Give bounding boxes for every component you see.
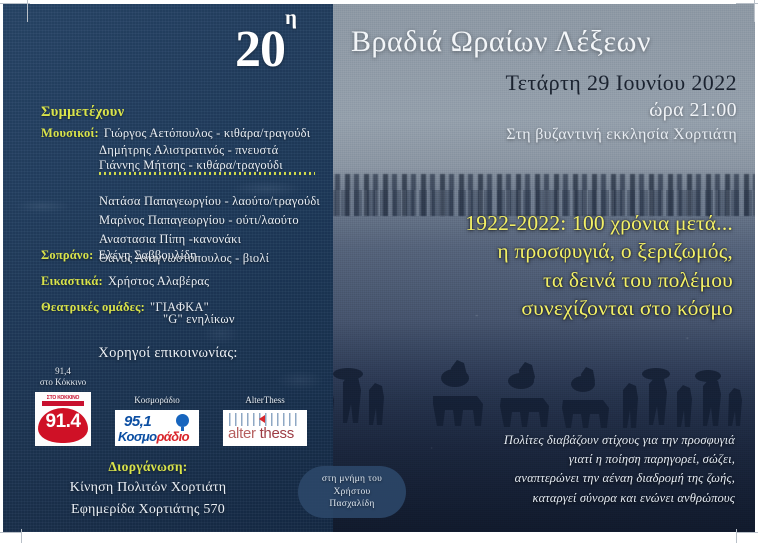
sto-kokkino-logo-frequency: 91.4	[35, 411, 91, 433]
sponsors-heading: Χορηγοί επικοινωνίας:	[3, 345, 333, 362]
sponsor-item: AlterThess alter thess	[223, 395, 307, 445]
organiser-heading: Διοργάνωση:	[3, 459, 293, 475]
participants-heading: Συμμετέχουν	[41, 104, 124, 121]
poem-line-2: γιατί η ποίηση παρηγορεί, σώζει,	[355, 450, 735, 469]
sponsors-list: 91,4 στο Κόκκινο ΣΤΟ ΚΟΚΚΙΝΟ 91.4 Κοσμορ…	[35, 366, 307, 446]
memorial-line-1: στη μνήμη του	[322, 473, 382, 486]
dotted-divider	[99, 172, 315, 175]
kosmoradio-logo-frequency: 95,1	[124, 413, 151, 430]
trim-mark	[21, 529, 22, 543]
trim-mark	[736, 529, 737, 543]
left-blue-panel	[3, 4, 333, 532]
poem-blurb: Πολίτες διαβάζουν στίχους για την προσφυ…	[355, 431, 735, 509]
headline-line-2: η προσφυγιά, ο ξεριζωμός,	[323, 237, 733, 265]
edition-number: 20	[235, 21, 285, 78]
musicians-first-row: Μουσικοί: Γιώργος Αετόπουλος - κιθάρα/τρ…	[41, 124, 310, 143]
sponsor-caption: Κοσμοράδιο	[115, 395, 199, 406]
edition-ordinal: 20η	[235, 24, 296, 76]
organiser-line-1: Κίνηση Πολιτών Χορτιάτη	[3, 480, 293, 496]
sponsor-item: Κοσμοράδιο 95,1 Κοσμοράδιο	[115, 395, 199, 445]
play-triangle-icon	[259, 415, 265, 423]
poem-line-3: αναπτερώνει την αέναη διαδρομή της ζωής,	[355, 469, 735, 488]
alterthess-logo-name: alter thess	[228, 425, 294, 442]
memorial-line-3: Πασχαλίδη	[329, 498, 374, 511]
kosmoradio-logo: 95,1 Κοσμοράδιο	[115, 410, 199, 446]
headline-line-3: τα δεινά του πολέμου	[323, 266, 733, 294]
trim-mark	[736, 532, 758, 533]
kosmoradio-logo-name: Κοσμοράδιο	[118, 429, 189, 444]
memorial-dedication-badge: στη μνήμη του Χρήστου Πασχαλίδη	[298, 466, 406, 518]
visual-arts-label: Εικαστικά:	[41, 272, 103, 291]
visual-arts-row: Εικαστικά: Χρήστος Αλαβέρας	[41, 272, 209, 291]
musician-item: Γιάννης Μήτσης - κιθάρα/τραγούδι	[99, 158, 310, 173]
sponsor-item: 91,4 στο Κόκκινο ΣΤΟ ΚΟΚΚΙΝΟ 91.4	[35, 366, 91, 446]
visual-arts-value: Χρήστος Αλαβέρας	[108, 272, 209, 291]
musicians-label: Μουσικοί:	[41, 124, 99, 143]
trim-mark	[0, 532, 22, 533]
event-time: ώρα 21:00	[649, 99, 737, 122]
event-date: Τετάρτη 29 Ιουνίου 2022	[505, 70, 737, 96]
alterthess-name-part2: thess	[260, 425, 294, 442]
soprano-value: Ελένη Σαββουλίδη	[99, 246, 197, 265]
trim-mark	[754, 0, 755, 22]
musician-item: Μαρίνος Παπαγεωργίου - ούτι/λαούτο	[99, 211, 320, 230]
memorial-line-2: Χρήστου	[333, 486, 370, 499]
soprano-row: Σοπράνο: Ελένη Σαββουλίδη	[41, 246, 197, 265]
poster-canvas: 20η Βραδιά Ωραίων Λέξεων Τετάρτη 29 Ιουν…	[3, 4, 755, 532]
poster-title: Βραδιά Ωραίων Λέξεων	[351, 26, 743, 58]
trim-mark	[0, 3, 30, 4]
musician-item: Γιώργος Αετόπουλος - κιθάρα/τραγούδι	[104, 124, 310, 143]
panel-texture	[3, 4, 333, 532]
trim-mark	[27, 0, 28, 22]
musician-item: Δημήτρης Αλιστρατινός - πνευστά	[99, 143, 310, 158]
event-poster: 20η Βραδιά Ωραίων Λέξεων Τετάρτη 29 Ιουν…	[0, 0, 758, 543]
poem-line-4: καταργεί σύνορα και ενώνει ανθρώπους	[355, 489, 735, 508]
event-venue: Στη βυζαντινή εκκλησία Χορτιάτη	[506, 126, 737, 144]
sponsor-caption: AlterThess	[223, 395, 307, 406]
organiser-line-2: Εφημερίδα Χορτιάτης 570	[3, 502, 293, 518]
musician-item: Νατάσα Παπαγεωργίου - λαούτο/τραγούδι	[99, 192, 320, 211]
theatre-group-value-secondary: "G" ενηλίκων	[163, 312, 235, 327]
sto-kokkino-logo-bar	[42, 401, 84, 406]
musicians-block: Μουσικοί: Γιώργος Αετόπουλος - κιθάρα/τρ…	[41, 124, 310, 173]
alterthess-logo: alter thess	[223, 410, 307, 446]
edition-suffix: η	[285, 5, 296, 29]
headline-line-1: 1922-2022: 100 χρόνια μετά...	[323, 209, 733, 237]
kosmoradio-name-part2: ράδιο	[157, 429, 189, 444]
sponsor-caption: 91,4 στο Κόκκινο	[35, 366, 91, 389]
globe-icon	[176, 414, 189, 427]
commemoration-headline: 1922-2022: 100 χρόνια μετά... η προσφυγι…	[323, 209, 733, 323]
soprano-label: Σοπράνο:	[41, 246, 94, 265]
sto-kokkino-radio-logo: ΣΤΟ ΚΟΚΚΙΝΟ 91.4	[35, 392, 91, 446]
theatre-groups-label: Θεατρικές ομάδες:	[41, 298, 145, 317]
alterthess-name-part1: alter	[228, 425, 260, 442]
kosmoradio-name-part1: Κοσμο	[118, 429, 157, 444]
poem-line-1: Πολίτες διαβάζουν στίχους για την προσφυ…	[355, 431, 735, 450]
headline-line-4: συνεχίζονται στο κόσμο	[323, 294, 733, 322]
